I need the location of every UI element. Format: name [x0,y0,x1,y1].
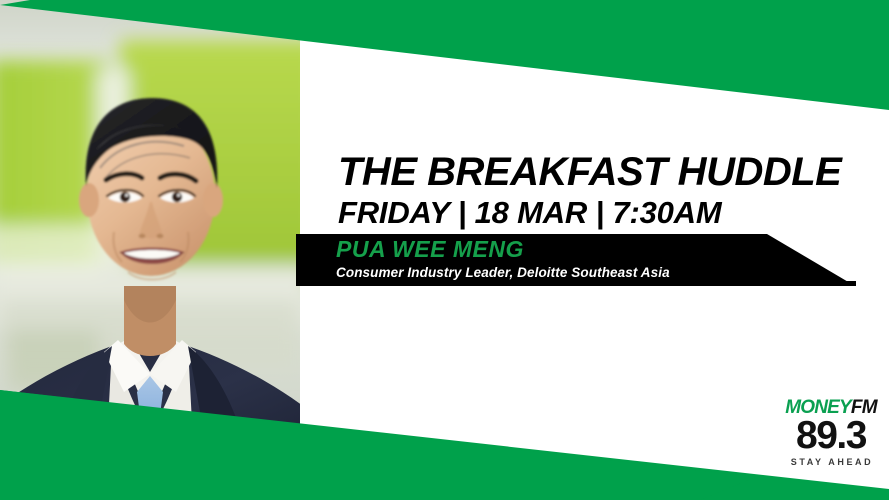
guest-role: Consumer Industry Leader, Deloitte South… [336,264,766,281]
show-datetime: FRIDAY | 18 MAR | 7:30AM [338,194,858,232]
logo-frequency: 89.3 [778,416,884,456]
show-title-block: THE BREAKFAST HUDDLE FRIDAY | 18 MAR | 7… [338,150,858,232]
station-logo: MONEYFM 89.3 STAY AHEAD [778,398,884,476]
guest-name: PUA WEE MENG [336,237,766,262]
logo-tagline: STAY AHEAD [780,457,884,468]
guest-text-group: PUA WEE MENG Consumer Industry Leader, D… [336,234,766,286]
promo-banner: THE BREAKFAST HUDDLE FRIDAY | 18 MAR | 7… [0,0,889,500]
page-title: THE BREAKFAST HUDDLE [338,150,858,194]
guest-bar: PUA WEE MENG Consumer Industry Leader, D… [296,234,856,286]
